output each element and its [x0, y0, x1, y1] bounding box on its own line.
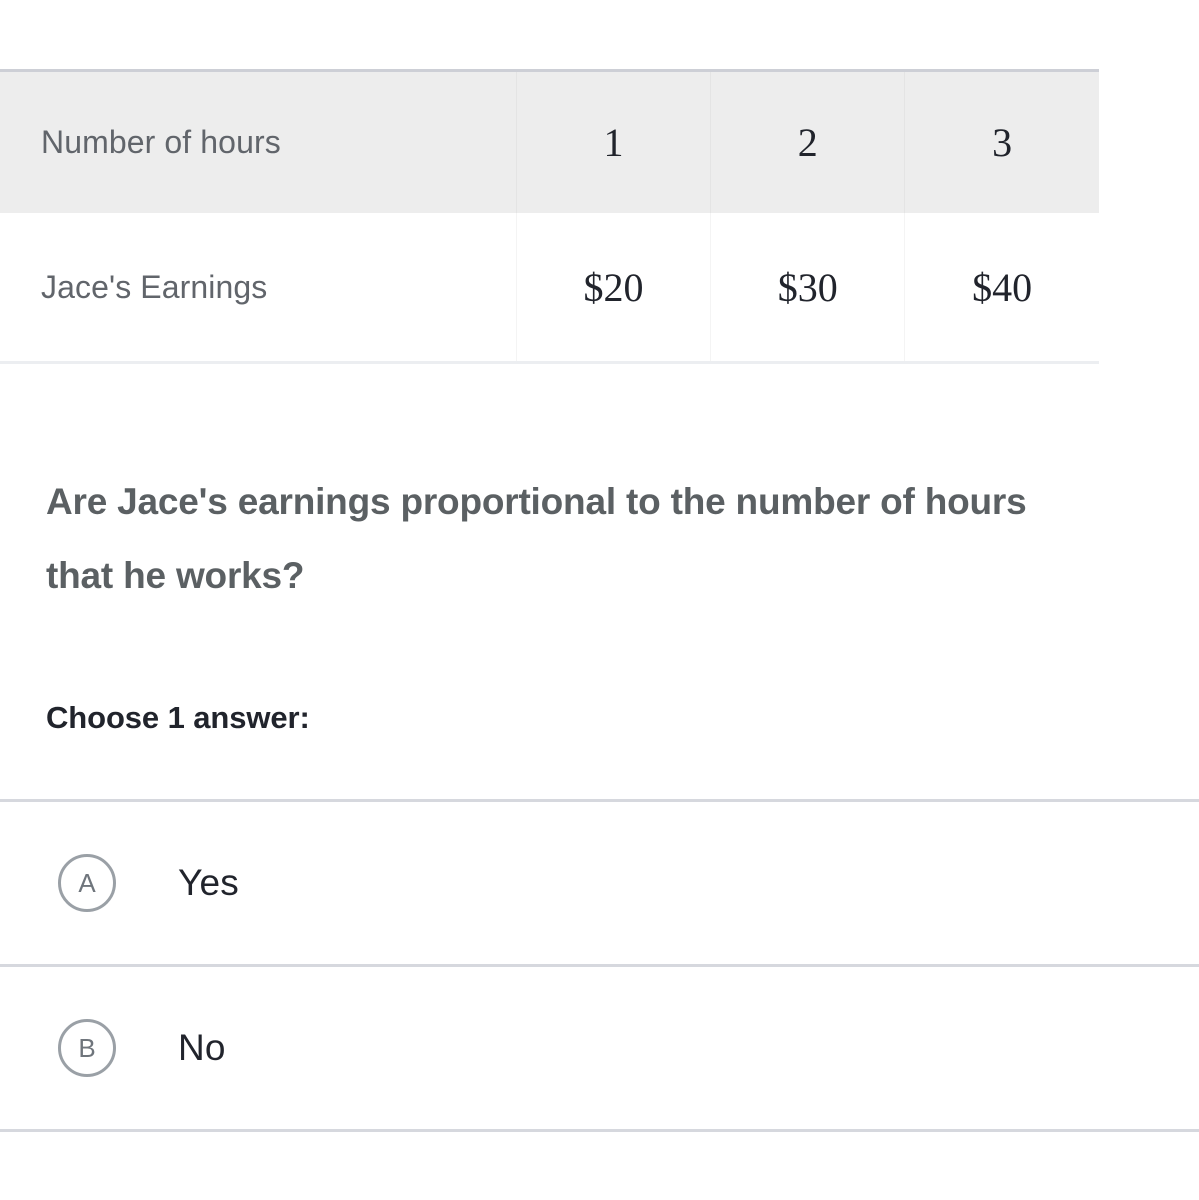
earnings-table: Number of hours 1 2 3 Jace's Earnings $2…	[0, 69, 1099, 364]
table-header-hours-1: 1	[516, 71, 710, 214]
table-header-label: Number of hours	[0, 71, 516, 214]
answer-choices-list: A Yes B No	[0, 799, 1199, 1132]
table-header-row: Number of hours 1 2 3	[0, 71, 1099, 214]
answer-option-a[interactable]: A Yes	[0, 802, 1199, 964]
answer-letter-b: B	[78, 1033, 95, 1064]
table-header: Number of hours 1 2 3	[0, 71, 1099, 214]
answer-label-a: Yes	[178, 862, 239, 904]
table-cell-earnings-3: $40	[905, 213, 1099, 363]
choose-answer-prompt: Choose 1 answer:	[46, 700, 310, 736]
table-cell-earnings-1: $20	[516, 213, 710, 363]
table-row: Jace's Earnings $20 $30 $40	[0, 213, 1099, 363]
divider-bottom	[0, 1129, 1199, 1132]
answer-letter-a: A	[78, 868, 95, 899]
table-cell-earnings-2: $30	[711, 213, 905, 363]
table-header-hours-2: 2	[711, 71, 905, 214]
table-header-hours-3: 3	[905, 71, 1099, 214]
answer-bubble-b[interactable]: B	[58, 1019, 116, 1077]
earnings-table-container: Number of hours 1 2 3 Jace's Earnings $2…	[0, 69, 1099, 364]
table-body: Jace's Earnings $20 $30 $40	[0, 213, 1099, 363]
answer-bubble-a[interactable]: A	[58, 854, 116, 912]
question-text: Are Jace's earnings proportional to the …	[46, 465, 1046, 613]
answer-option-b[interactable]: B No	[0, 967, 1199, 1129]
table-row-label-earnings: Jace's Earnings	[0, 213, 516, 363]
answer-label-b: No	[178, 1027, 226, 1069]
